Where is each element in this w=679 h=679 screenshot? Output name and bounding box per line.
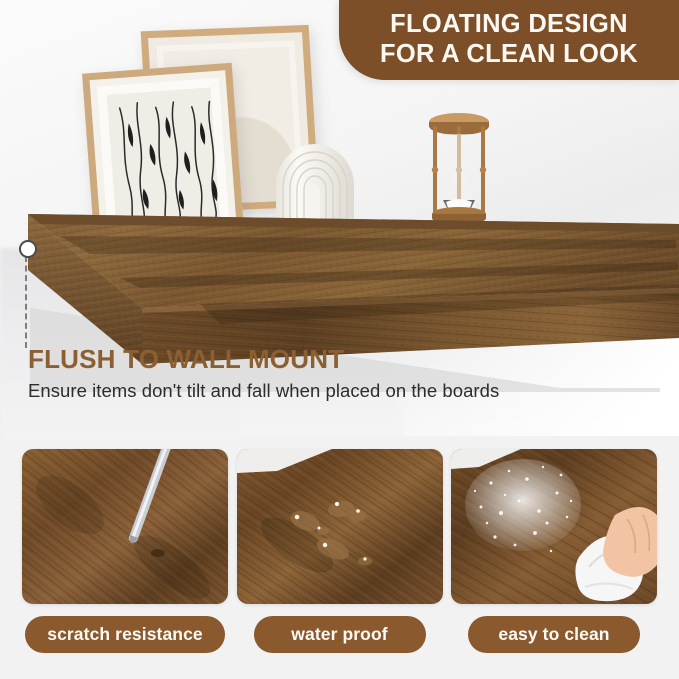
wood-scratch-test-photo — [22, 449, 228, 604]
banner-title-line-2: FOR A CLEAN LOOK — [380, 40, 638, 70]
feature-label-scratch-resistance: scratch resistance — [25, 616, 225, 653]
feature-label-water-proof: water proof — [254, 616, 426, 653]
feature-easy-to-clean: easy to clean — [451, 436, 657, 679]
callout-headline: FLUSH TO WALL MOUNT — [28, 345, 499, 374]
wood-wipe-clean-photo — [451, 449, 657, 604]
feature-label-easy-to-clean: easy to clean — [468, 616, 640, 653]
feature-panels: scratch resistance — [0, 436, 679, 679]
water-droplets-image — [237, 449, 443, 604]
flush-mount-callout: FLUSH TO WALL MOUNT Ensure items don't t… — [28, 345, 499, 402]
scratch-test-image — [22, 449, 228, 604]
feature-scratch-resistance: scratch resistance — [22, 436, 228, 679]
dot-marker-icon — [19, 240, 37, 258]
dashed-leader-line-icon — [25, 256, 27, 348]
wipe-clean-image — [451, 449, 657, 604]
floating-design-banner: FLOATING DESIGN FOR A CLEAN LOOK — [339, 0, 679, 80]
callout-subline: Ensure items don't tilt and fall when pl… — [28, 380, 499, 402]
banner-title-line-1: FLOATING DESIGN — [390, 10, 628, 40]
product-infographic: FLOATING DESIGN FOR A CLEAN LOOK FLUSH T… — [0, 0, 679, 679]
feature-water-proof: water proof — [237, 436, 443, 679]
wood-water-droplets-photo — [237, 449, 443, 604]
